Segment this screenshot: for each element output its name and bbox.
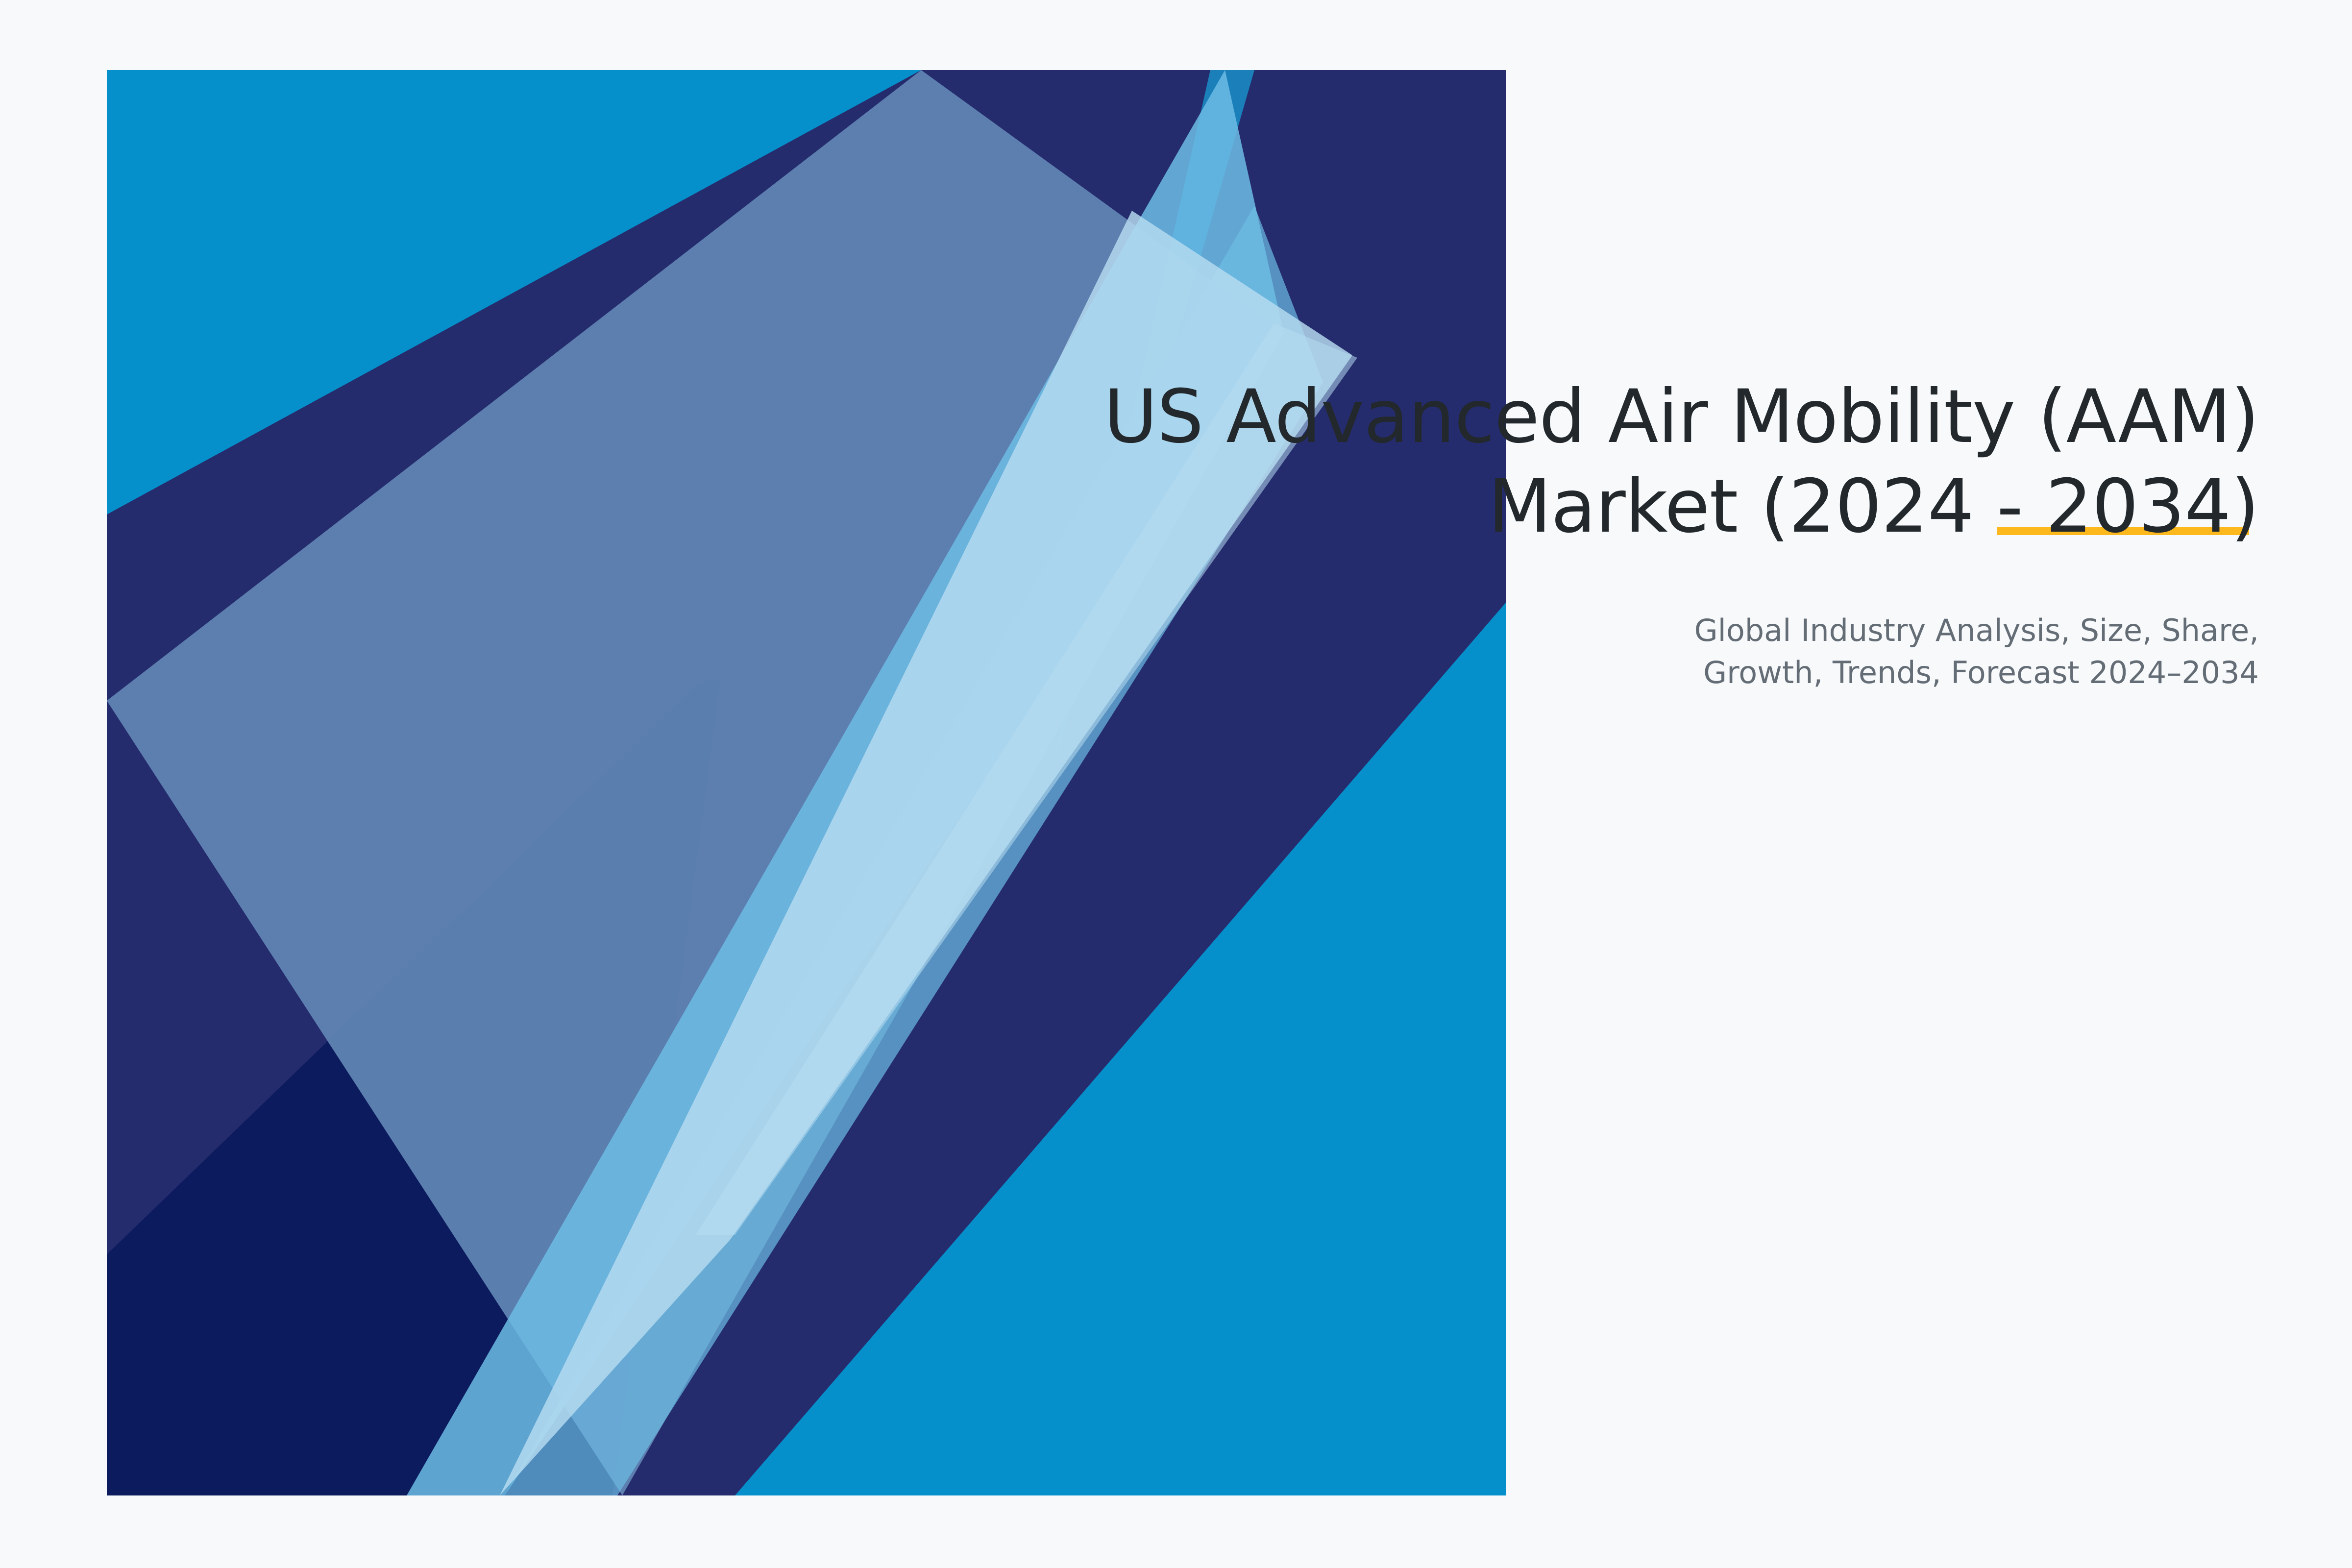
shape-navy-large <box>107 70 1506 1495</box>
shape-navy-sweep <box>107 70 921 696</box>
shape-steel-blue-panel <box>107 70 1284 1495</box>
shape-cyan-field <box>107 70 1506 1495</box>
title-wrap: US Advanced Air Mobility (AAM) Market (2… <box>1039 372 2259 552</box>
shape-dark-navy-wedge <box>343 681 720 1495</box>
cover-text-block: US Advanced Air Mobility (AAM) Market (2… <box>1039 372 2259 693</box>
abstract-polygon-graphic <box>0 0 2352 1568</box>
report-cover: US Advanced Air Mobility (AAM) Market (2… <box>0 0 2352 1568</box>
page-subtitle: Global Industry Analysis, Size, Share, G… <box>1039 610 2259 693</box>
shape-sky-blue-band <box>407 70 1284 1495</box>
shape-dark-navy-lower <box>107 681 720 1495</box>
page-title: US Advanced Air Mobility (AAM) Market (2… <box>1039 372 2259 552</box>
